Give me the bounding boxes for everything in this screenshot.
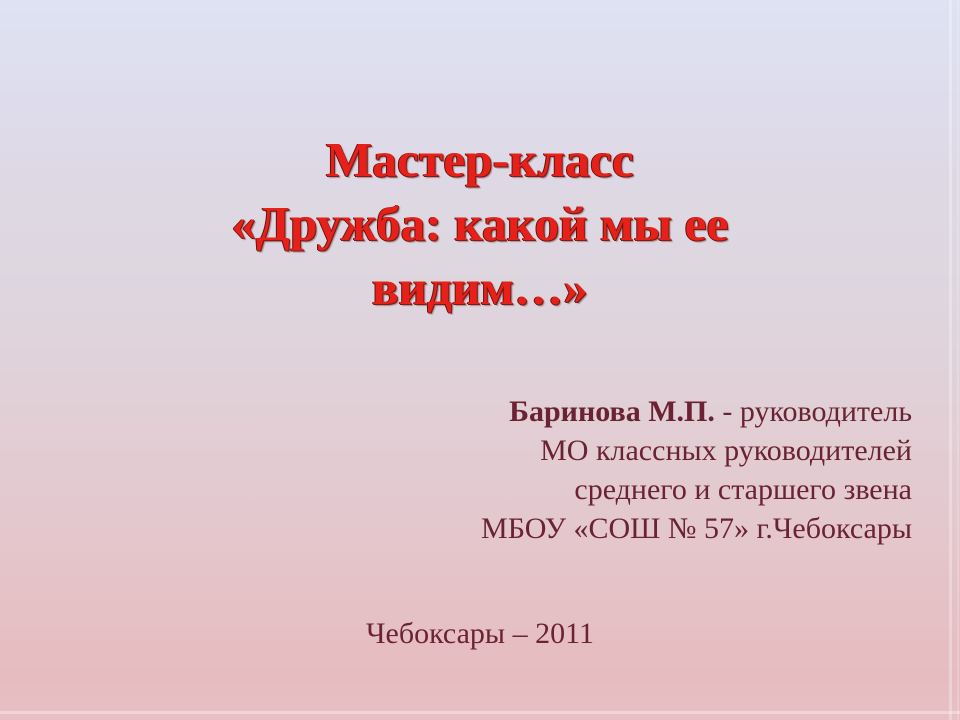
title-slide: Мастер-класс «Дружба: какой мы ее видим…… <box>0 0 960 720</box>
right-edge-seam <box>949 0 952 720</box>
credit-line-department: МО классных руководителей <box>212 431 912 470</box>
title-line-2: «Дружба: какой мы ее <box>60 192 900 256</box>
credit-line-school: МБОУ «СОШ № 57» г.Чебоксары <box>212 509 912 548</box>
credit-line-author: Баринова М.П. - руководитель <box>212 392 912 431</box>
footer: Чебоксары – 2011 <box>0 614 960 654</box>
author-credits: Баринова М.П. - руководитель МО классных… <box>212 392 912 548</box>
right-edge-seam-outer <box>957 0 959 720</box>
slide-title: Мастер-класс «Дружба: какой мы ее видим…… <box>60 128 900 320</box>
author-role: - руководитель <box>715 395 912 428</box>
place-and-year: Чебоксары – 2011 <box>366 614 594 654</box>
bottom-edge-seam <box>0 711 960 714</box>
credit-line-level: среднего и старшего звена <box>212 470 912 509</box>
title-line-3: видим…» <box>60 256 900 320</box>
title-line-1: Мастер-класс <box>60 128 900 192</box>
author-name: Баринова М.П. <box>509 395 715 428</box>
